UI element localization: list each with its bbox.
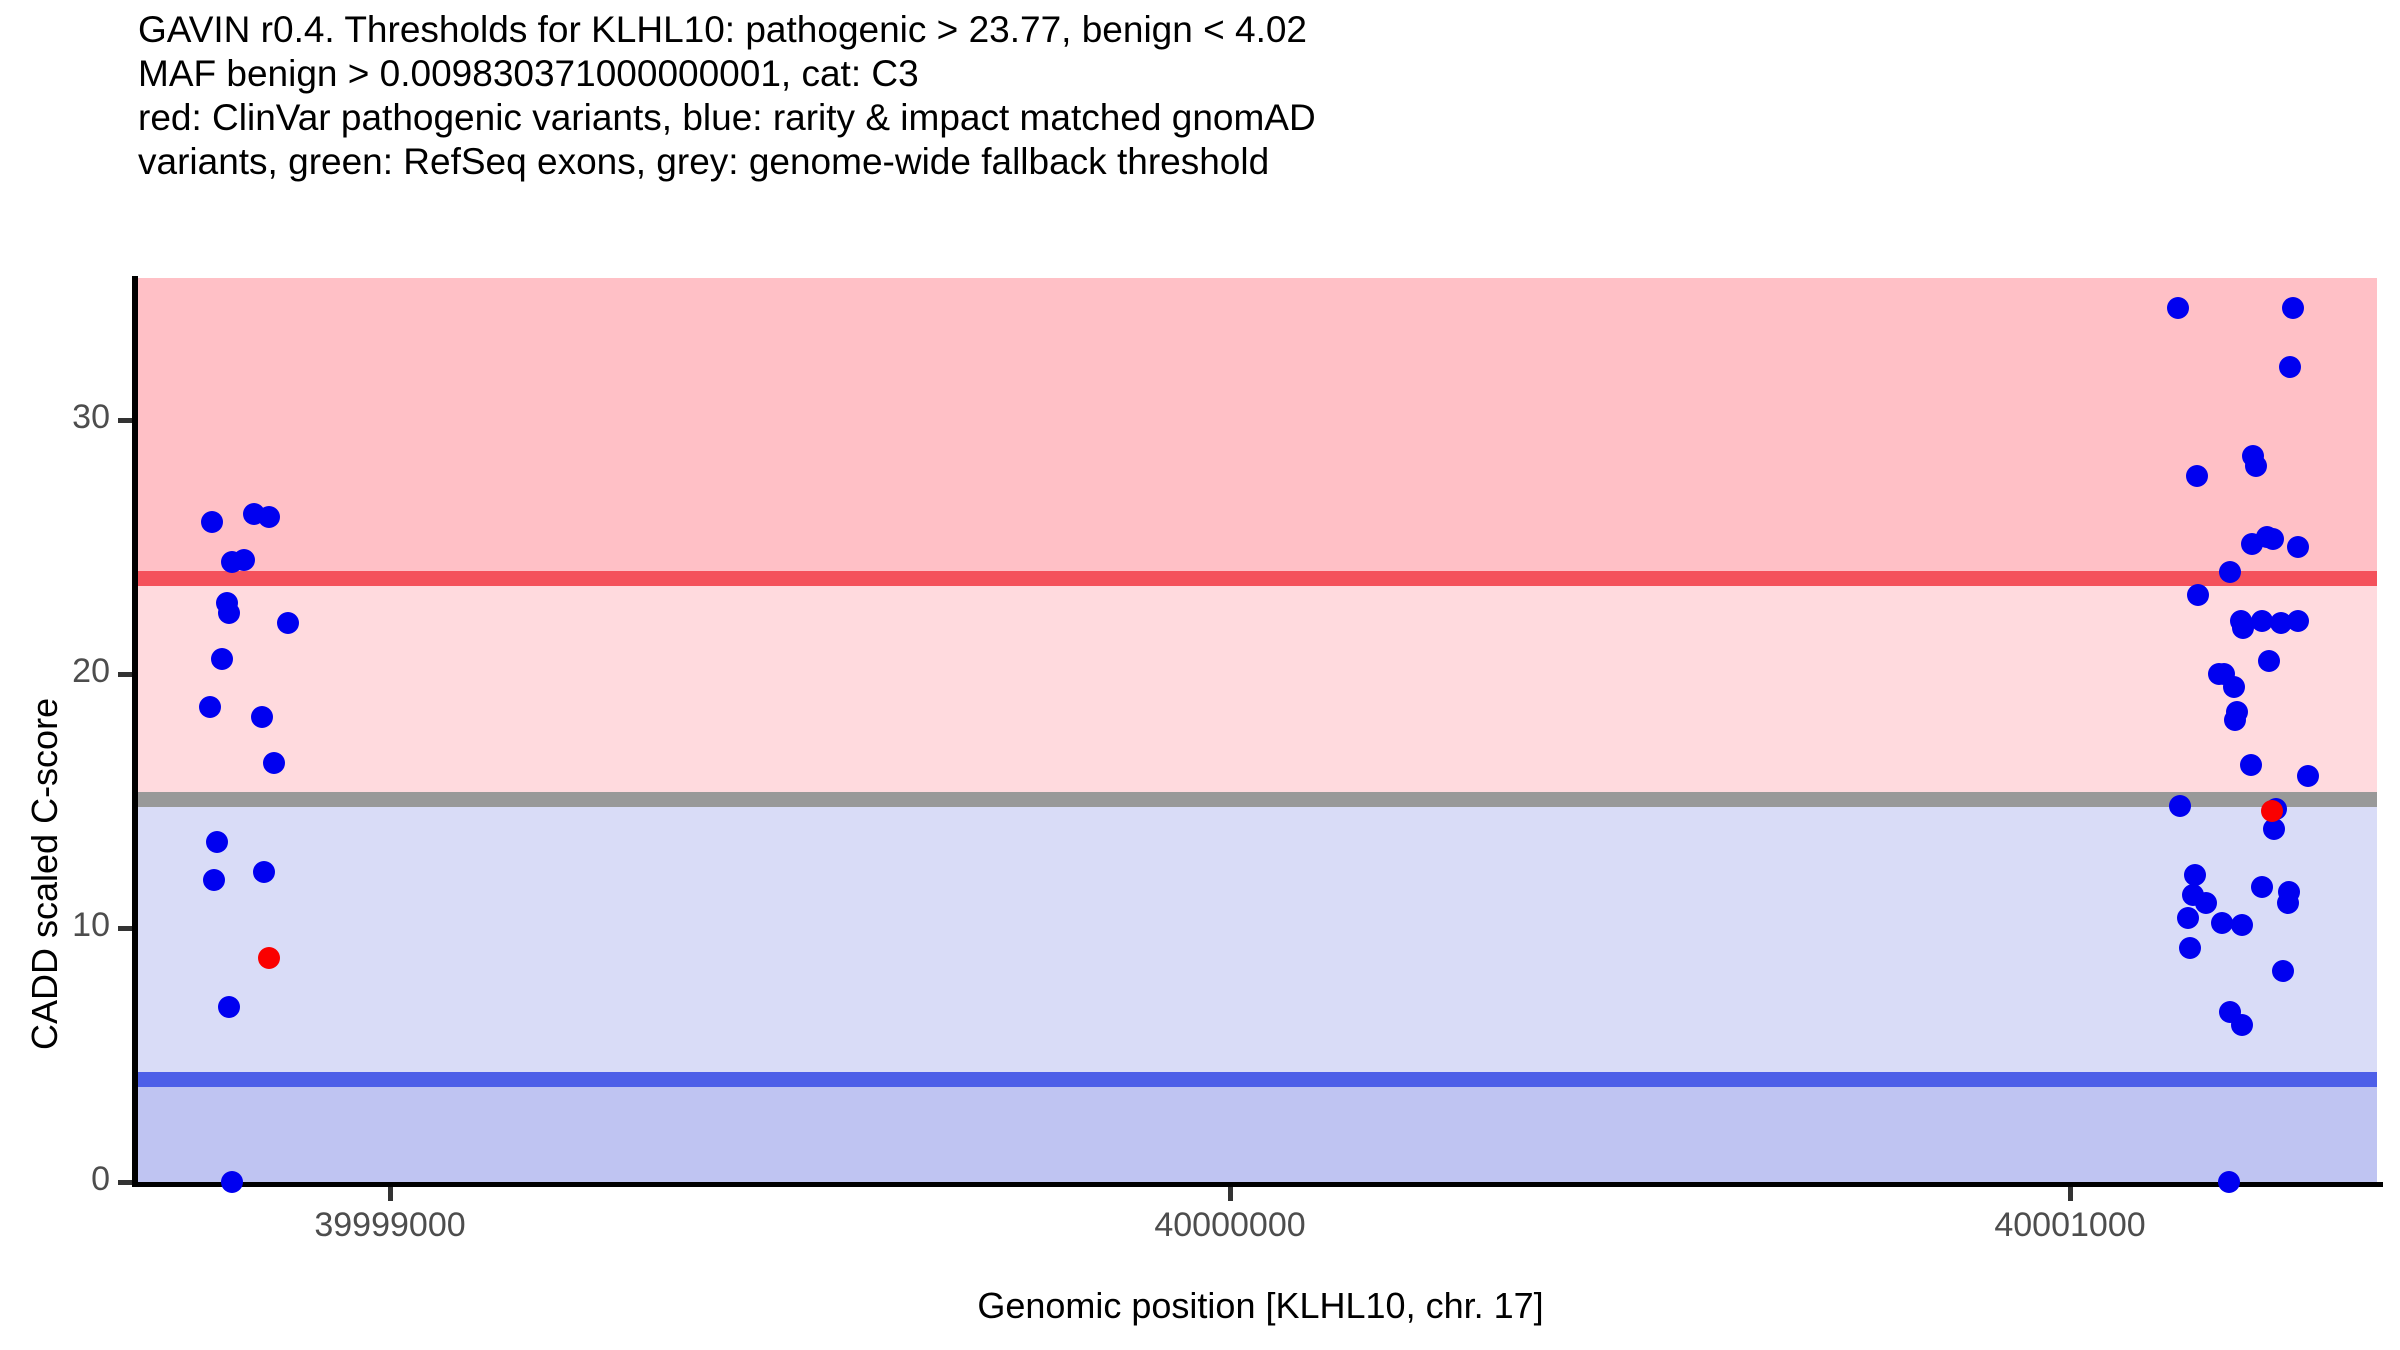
title-line-4: variants, green: RefSeq exons, grey: gen…	[138, 140, 2238, 184]
gnomad-variant-point	[277, 612, 299, 634]
gnomad-variant-point	[221, 1171, 243, 1193]
gnomad-variant-point	[2272, 960, 2294, 982]
x-axis-title: Genomic position [KLHL10, chr. 17]	[138, 1285, 2383, 1327]
gnomad-variant-point	[233, 549, 255, 571]
x-axis-line	[132, 1182, 2383, 1187]
gnomad-variant-point	[2169, 795, 2191, 817]
x-tick-mark-39999000	[388, 1187, 393, 1201]
gnomad-variant-point	[2277, 892, 2299, 914]
gnomad-variant-point	[206, 831, 228, 853]
gnomad-variant-point	[2186, 465, 2208, 487]
y-tick-mark-10	[118, 926, 132, 931]
title-line-1: GAVIN r0.4. Thresholds for KLHL10: patho…	[138, 8, 2238, 52]
gnomad-variant-point	[218, 602, 240, 624]
gnomad-variant-point	[2240, 754, 2262, 776]
plot-panel	[138, 278, 2383, 1184]
title-line-3: red: ClinVar pathogenic variants, blue: …	[138, 96, 2238, 140]
fallback-threshold-line	[138, 792, 2377, 807]
y-tick-label-30: 30	[20, 398, 110, 437]
y-tick-mark-30	[118, 418, 132, 423]
x-tick-label-39999000: 39999000	[240, 1206, 540, 1245]
band-vous-upper	[138, 578, 2377, 799]
gnomad-variant-point	[2177, 907, 2199, 929]
y-axis-line	[132, 276, 138, 1186]
x-tick-label-40001000: 40001000	[1920, 1206, 2220, 1245]
x-tick-label-40000000: 40000000	[1080, 1206, 1380, 1245]
band-benign	[138, 1080, 2377, 1184]
x-tick-mark-40000000	[1228, 1187, 1233, 1201]
y-tick-label-20: 20	[20, 652, 110, 691]
y-tick-label-0: 0	[20, 1160, 110, 1199]
gnomad-variant-point	[2231, 1014, 2253, 1036]
gnomad-variant-point	[2218, 1171, 2240, 1193]
gnomad-variant-point	[2167, 297, 2189, 319]
y-axis-title: CADD scaled C-score	[24, 50, 74, 1050]
pathogenic-threshold-line	[138, 571, 2377, 586]
gnomad-variant-point	[2184, 864, 2206, 886]
x-tick-mark-40001000	[2068, 1187, 2073, 1201]
band-pathogenic	[138, 278, 2377, 578]
title-line-2: MAF benign > 0.009830371000000001, cat: …	[138, 52, 2238, 96]
plot-root: GAVIN r0.4. Thresholds for KLHL10: patho…	[0, 0, 2400, 1350]
gnomad-variant-point	[253, 861, 275, 883]
gnomad-variant-point	[218, 996, 240, 1018]
benign-threshold-line	[138, 1072, 2377, 1087]
y-tick-label-10: 10	[20, 906, 110, 945]
plot-title-block: GAVIN r0.4. Thresholds for KLHL10: patho…	[138, 8, 2238, 184]
gnomad-variant-point	[2187, 584, 2209, 606]
gnomad-variant-point	[211, 648, 233, 670]
gnomad-variant-point	[2297, 765, 2319, 787]
gnomad-variant-point	[2211, 912, 2233, 934]
gnomad-variant-point	[258, 506, 280, 528]
y-tick-mark-20	[118, 672, 132, 677]
gnomad-variant-point	[201, 511, 223, 533]
y-tick-mark-0	[118, 1180, 132, 1185]
band-vous-lower	[138, 799, 2377, 1079]
gnomad-variant-point	[2195, 892, 2217, 914]
gnomad-variant-point	[2279, 356, 2301, 378]
gnomad-variant-point	[203, 869, 225, 891]
gnomad-variant-point	[2223, 676, 2245, 698]
gnomad-variant-point	[263, 752, 285, 774]
gnomad-variant-point	[2287, 610, 2309, 632]
